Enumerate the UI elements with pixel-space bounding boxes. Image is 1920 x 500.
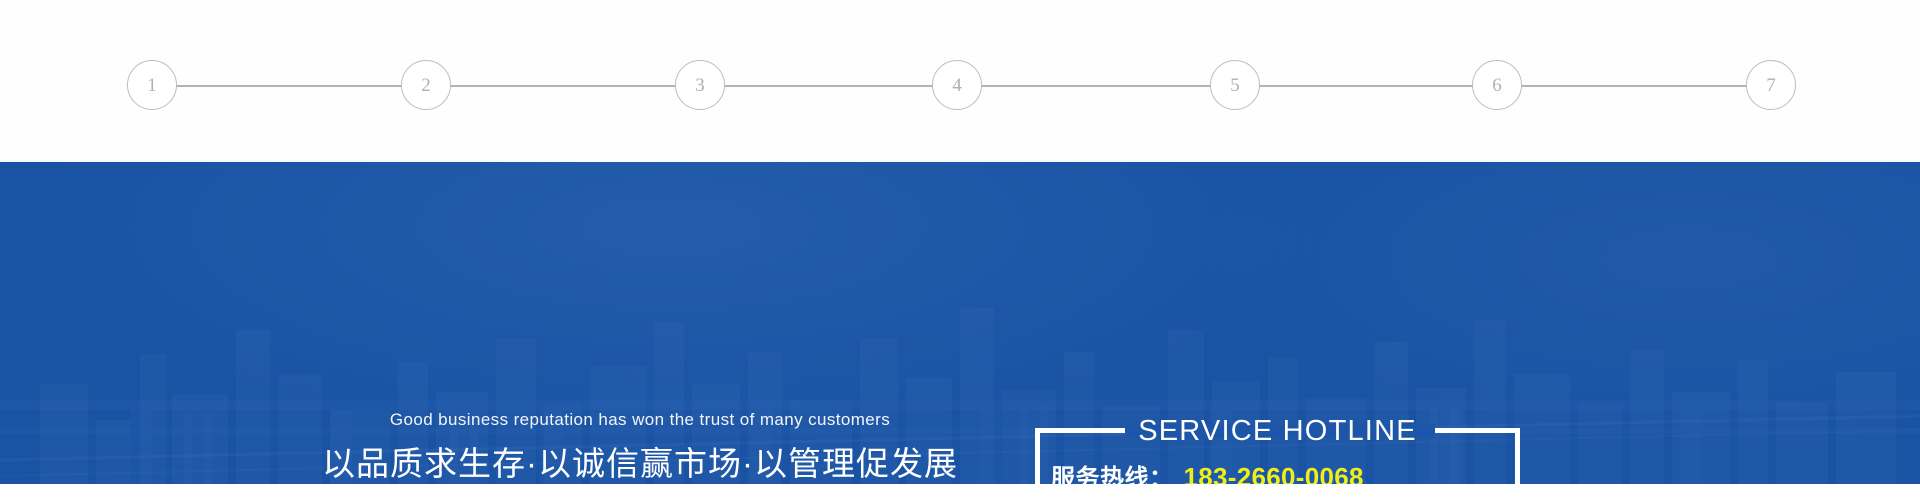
pagination-step-5[interactable]: 5: [1210, 60, 1260, 110]
hotline-number-primary[interactable]: 183-2660-0068: [1184, 462, 1364, 484]
hotline-card: SERVICE HOTLINE 服务热线： 183-2660-0068 0551…: [1035, 414, 1520, 484]
pagination-step-6[interactable]: 6: [1472, 60, 1522, 110]
promo-banner: Good business reputation has won the tru…: [0, 162, 1920, 484]
pagination-step-label: 7: [1766, 76, 1776, 95]
pagination-step-label: 2: [421, 76, 431, 95]
pagination-step-label: 4: [952, 76, 962, 95]
hotline-row-primary: 服务热线： 183-2660-0068: [1051, 462, 1504, 484]
slogan-english: Good business reputation has won the tru…: [280, 410, 1000, 430]
page-root: 1 2 3 4 5 6 7: [0, 0, 1920, 500]
pagination-step-label: 6: [1492, 76, 1502, 95]
pagination-step-4[interactable]: 4: [932, 60, 982, 110]
hotline-label: 服务热线：: [1051, 464, 1174, 484]
pagination-step-3[interactable]: 3: [675, 60, 725, 110]
pagination-step-2[interactable]: 2: [401, 60, 451, 110]
slogan-block: Good business reputation has won the tru…: [280, 410, 1000, 484]
pagination-step-7[interactable]: 7: [1746, 60, 1796, 110]
pagination-step-label: 1: [147, 76, 157, 95]
slogan-chinese-main: 以品质求生存·以诚信赢市场·以管理促发展: [280, 442, 1000, 484]
pagination-step-label: 5: [1230, 76, 1240, 95]
pagination-strip: 1 2 3 4 5 6 7: [0, 0, 1920, 162]
hotline-title: SERVICE HOTLINE: [1035, 414, 1520, 448]
pagination-step-1[interactable]: 1: [127, 60, 177, 110]
pagination-step-label: 3: [695, 76, 705, 95]
hotline-numbers: 服务热线： 183-2660-0068 0551-63749777: [1035, 462, 1520, 484]
